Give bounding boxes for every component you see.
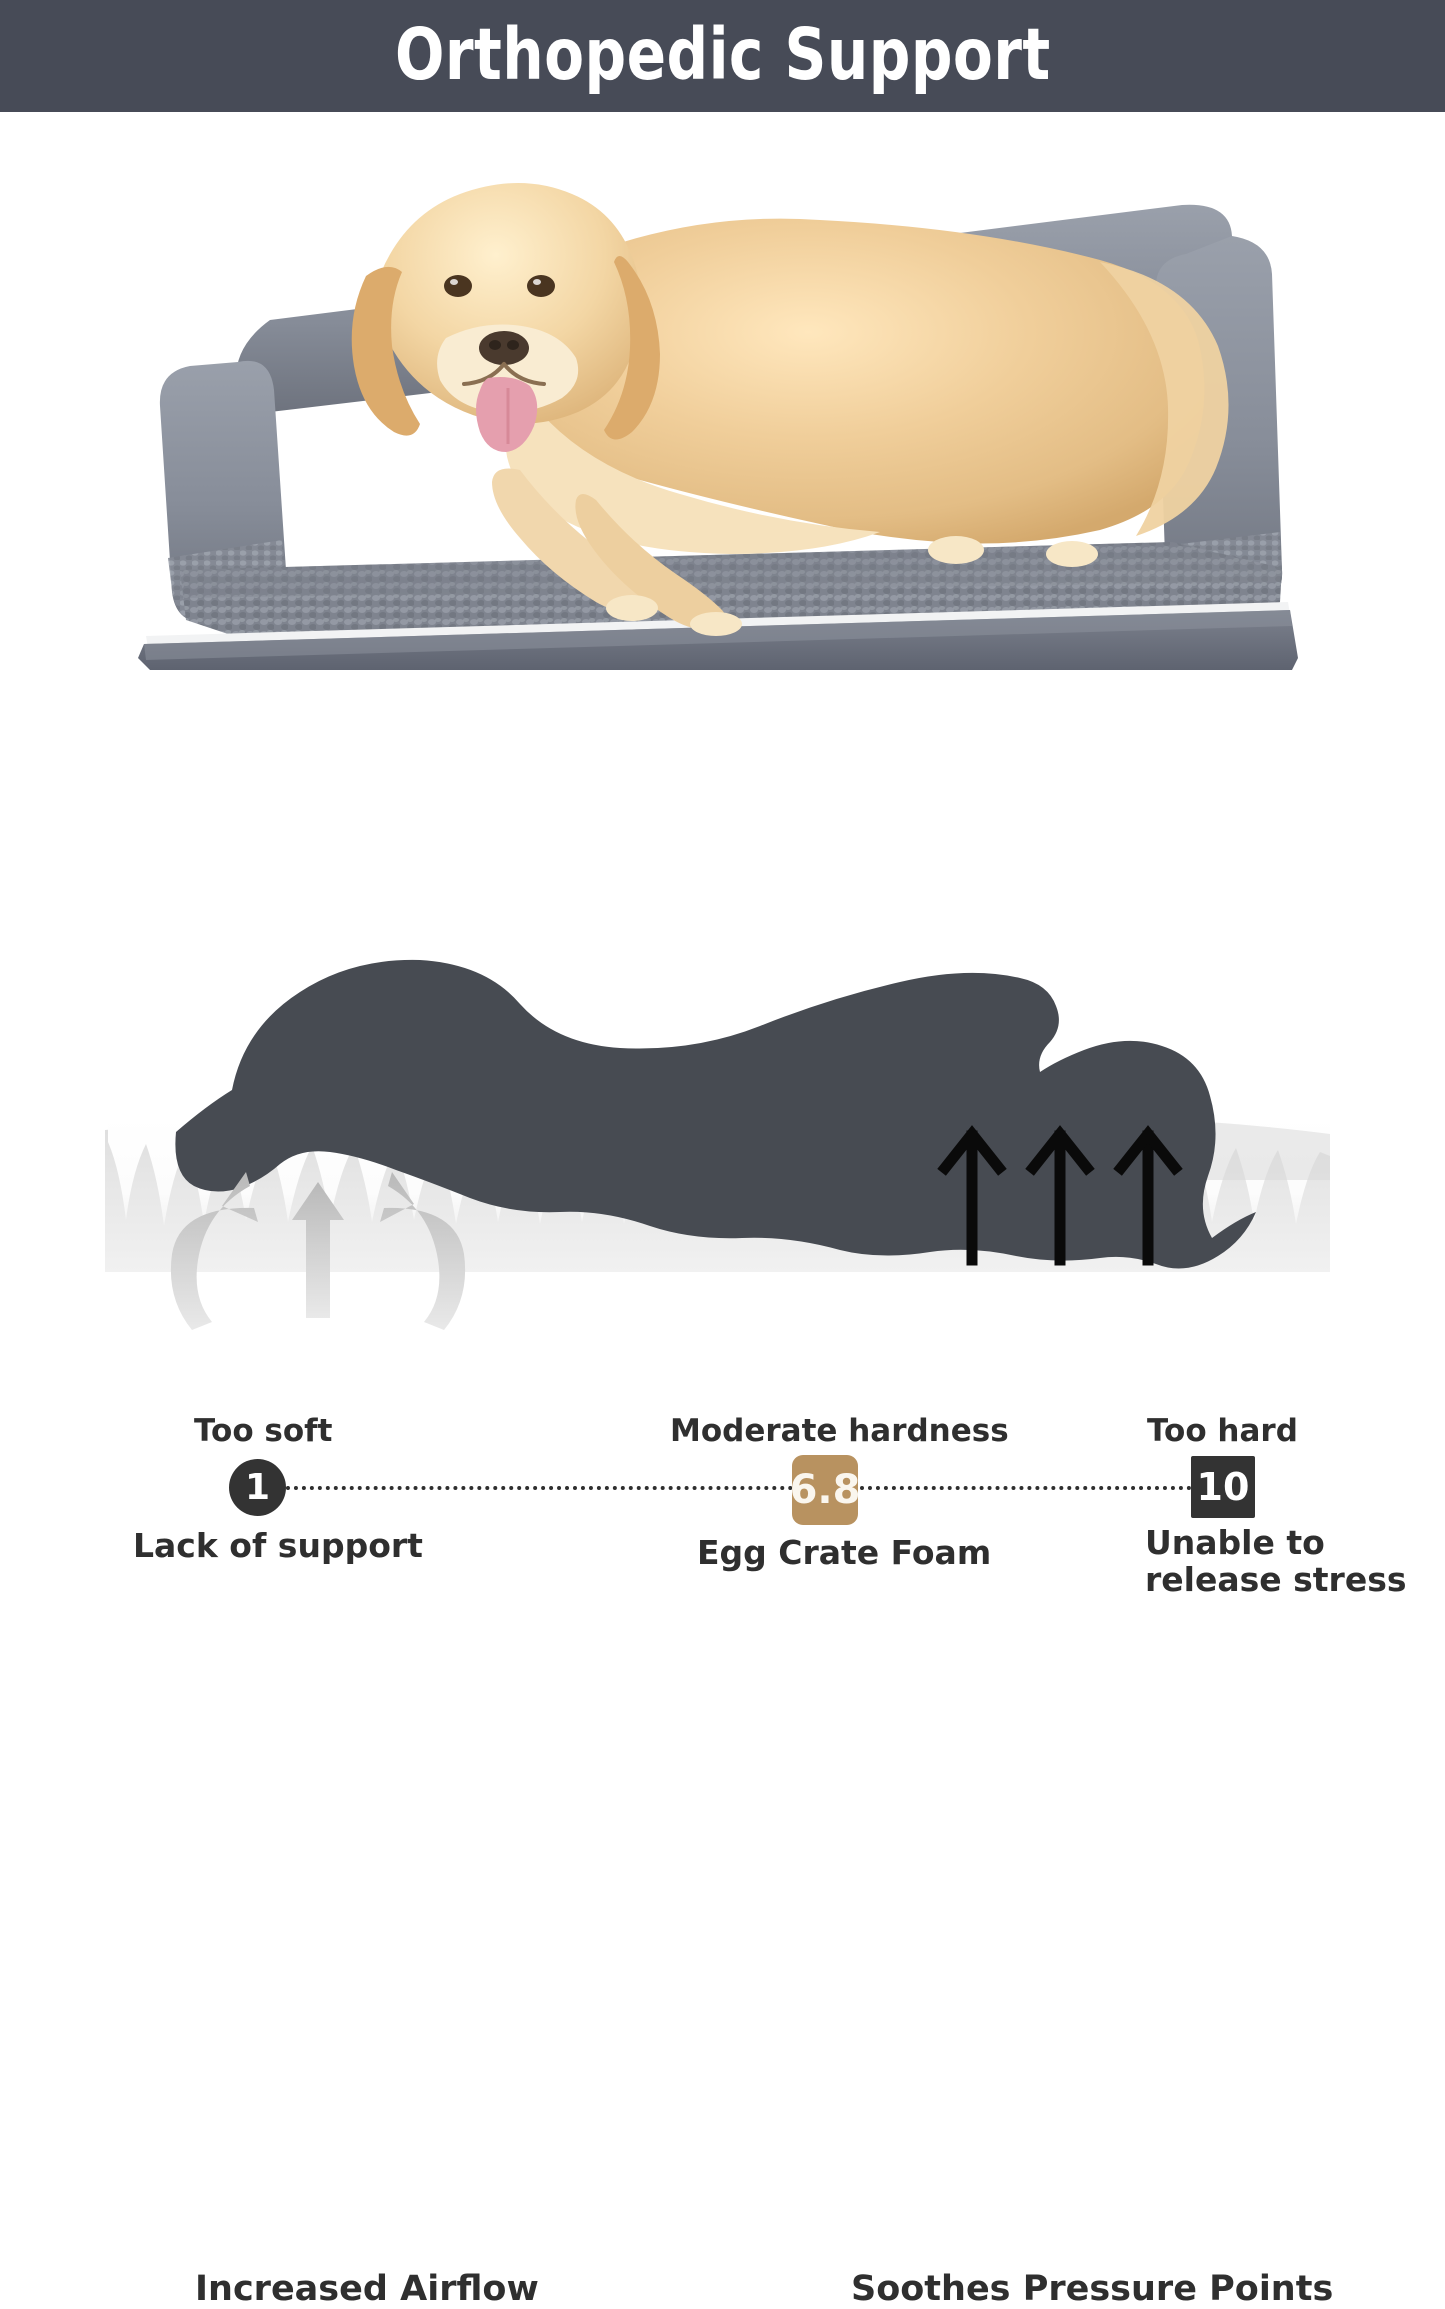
scale-marker-6-8: 6.8	[792, 1455, 858, 1525]
scale-desc-unable-release: Unable to release stress	[1145, 1525, 1407, 1599]
scale-desc-lack-of-support: Lack of support	[133, 1528, 423, 1565]
caption-increased-airflow: Increased Airflow	[195, 2272, 539, 2307]
scale-desc-egg-crate-foam: Egg Crate Foam	[697, 1535, 991, 1572]
page-title: Orthopedic Support	[395, 19, 1051, 90]
scale-label-too-hard: Too hard	[1147, 1416, 1298, 1447]
scale-marker-1: 1	[229, 1459, 286, 1516]
product-photo	[120, 150, 1325, 670]
caption-soothes-pressure: Soothes Pressure Points	[851, 2272, 1333, 2307]
dog-bed-illustration	[120, 150, 1325, 670]
scale-marker-10: 10	[1191, 1456, 1255, 1518]
scale-dotted-line	[278, 1486, 1200, 1490]
hardness-scale: Too soft Moderate hardness Too hard 1 6.…	[0, 700, 1445, 900]
egg-crate-foam-illustration	[0, 920, 1445, 1391]
scale-label-too-soft: Too soft	[194, 1416, 332, 1447]
foam-diagram: Increased Airflow Soothes Pressure Point…	[0, 920, 1445, 1391]
header-banner: Orthopedic Support	[0, 0, 1445, 112]
scale-label-moderate: Moderate hardness	[670, 1416, 1009, 1447]
